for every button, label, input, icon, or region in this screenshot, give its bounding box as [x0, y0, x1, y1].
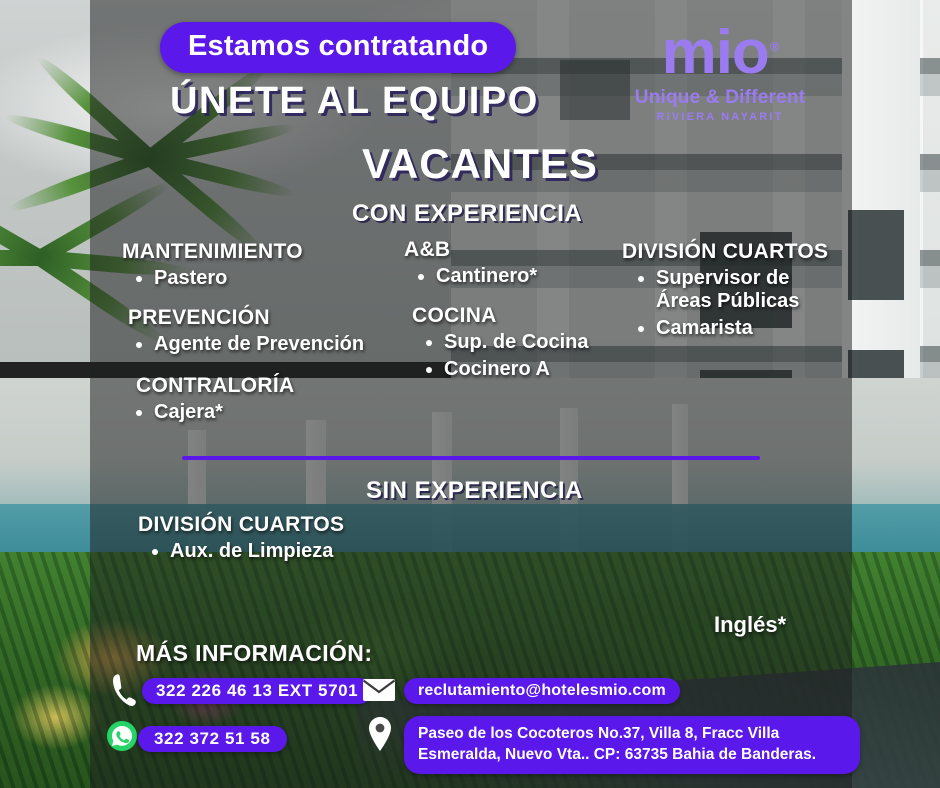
logo-wordmark: mio® — [662, 24, 779, 83]
department-heading: MANTENIMIENTO — [122, 240, 364, 264]
role-list: Supervisor de Áreas Públicas Camarista — [622, 267, 828, 341]
list-item: Cocinero A — [426, 358, 588, 381]
section-heading-without-experience: SIN EXPERIENCIA — [366, 477, 583, 505]
poster-title: ÚNETE AL EQUIPO — [170, 80, 539, 123]
location-pin-icon — [366, 716, 394, 752]
section-divider — [182, 456, 760, 460]
department-heading: DIVISIÓN CUARTOS — [622, 240, 828, 264]
poster-subtitle: VACANTES — [362, 140, 598, 188]
role-list: Agente de Prevención — [122, 333, 364, 356]
phone-icon — [110, 672, 140, 708]
poster-content: Estamos contratando ÚNETE AL EQUIPO VACA… — [0, 0, 940, 788]
job-column-food-beverage: A&B Cantinero* COCINA Sup. de Cocina Coc… — [404, 238, 588, 398]
department-heading: COCINA — [404, 304, 588, 328]
list-item: Agente de Prevención — [136, 333, 364, 356]
list-item: Cantinero* — [418, 265, 588, 288]
logo-tagline: Unique & Different — [630, 87, 810, 109]
job-column-maintenance: MANTENIMIENTO Pastero PREVENCIÓN Agente … — [122, 240, 364, 441]
contact-heading: MÁS INFORMACIÓN: — [136, 640, 372, 667]
whatsapp-number[interactable]: 322 372 51 58 — [138, 726, 287, 752]
list-item: Supervisor de Áreas Públicas — [638, 267, 828, 313]
role-list: Cantinero* — [404, 265, 588, 288]
whatsapp-icon — [106, 720, 138, 752]
role-list: Pastero — [122, 267, 364, 290]
job-column-rooms-division-entry: DIVISIÓN CUARTOS Aux. de Limpieza — [138, 513, 344, 579]
trademark-symbol: ® — [770, 39, 779, 54]
english-requirement-footnote: Inglés* — [714, 612, 786, 638]
logo-text: mio — [662, 18, 769, 87]
role-list: Sup. de Cocina Cocinero A — [404, 331, 588, 381]
department-heading: PREVENCIÓN — [122, 306, 364, 330]
list-item: Pastero — [136, 267, 364, 290]
phone-number[interactable]: 322 226 46 13 EXT 5701 — [142, 678, 372, 704]
job-column-rooms-division: DIVISIÓN CUARTOS Supervisor de Áreas Púb… — [622, 240, 828, 357]
department-heading: A&B — [404, 238, 588, 262]
role-list: Aux. de Limpieza — [138, 540, 344, 563]
logo-location: RIVIERA NAYARIT — [630, 111, 810, 123]
email-address[interactable]: reclutamiento@hotelesmio.com — [404, 678, 680, 704]
recruitment-poster: Estamos contratando ÚNETE AL EQUIPO VACA… — [0, 0, 940, 788]
department-heading: CONTRALORÍA — [122, 374, 364, 398]
email-icon — [362, 676, 396, 704]
list-item: Aux. de Limpieza — [152, 540, 344, 563]
list-item: Camarista — [638, 317, 828, 340]
list-item: Sup. de Cocina — [426, 331, 588, 354]
section-heading-with-experience: CON EXPERIENCIA — [352, 200, 582, 228]
street-address[interactable]: Paseo de los Cocoteros No.37, Villa 8, F… — [404, 716, 860, 774]
list-item: Cajera* — [136, 401, 364, 424]
role-list: Cajera* — [122, 401, 364, 424]
mio-logo: mio® Unique & Different RIVIERA NAYARIT — [630, 24, 810, 123]
hiring-badge: Estamos contratando — [160, 22, 516, 73]
department-heading: DIVISIÓN CUARTOS — [138, 513, 344, 537]
